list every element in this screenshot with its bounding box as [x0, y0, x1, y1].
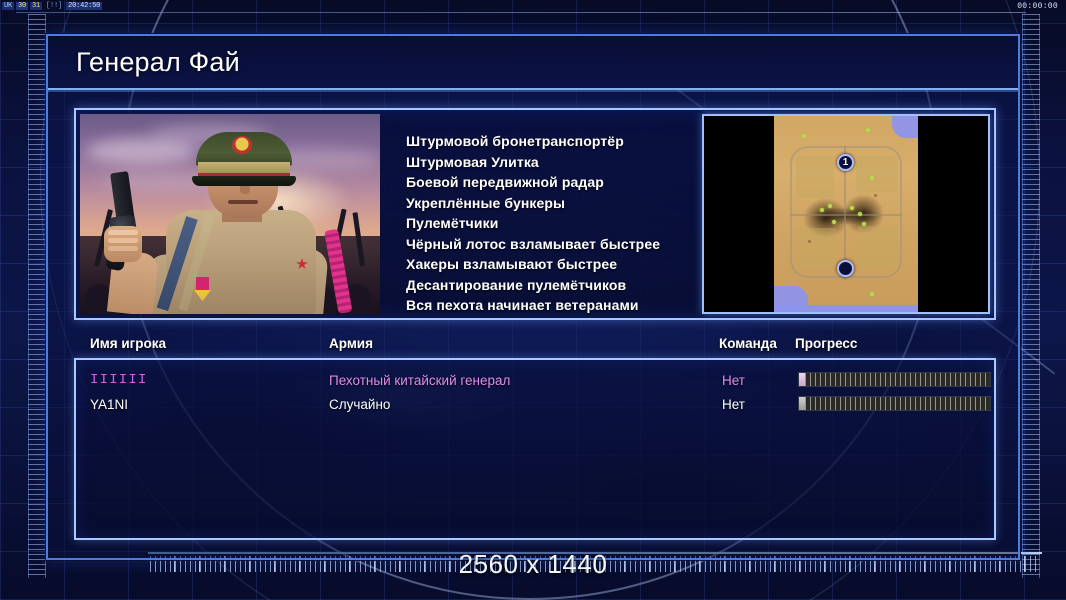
map-water — [892, 116, 918, 138]
map-tree — [870, 292, 874, 296]
column-header-name: Имя игрока — [90, 336, 166, 351]
count-a-chip: 30 — [16, 2, 28, 10]
clock-label: 20:42:50 — [66, 2, 102, 10]
table-row[interactable]: YA1NI Случайно Нет — [76, 392, 994, 416]
feature-item: Чёрный лотос взламывает быстрее — [406, 235, 702, 254]
map-feature-dot — [874, 194, 877, 197]
feature-item: Боевой передвижной радар — [406, 173, 702, 192]
map-tree — [850, 206, 854, 210]
player-progress — [798, 396, 991, 411]
map-tree — [862, 222, 866, 226]
frame-line-top — [16, 12, 1026, 13]
column-header-progress: Прогресс — [795, 336, 857, 351]
map-tree — [866, 128, 870, 132]
resolution-overlay: 2560 x 1440 — [0, 549, 1066, 580]
mouth — [228, 200, 258, 204]
feature-item: Хакеры взламывают быстрее — [406, 255, 702, 274]
progress-bar — [798, 372, 991, 387]
lobby-window: Генерал Фай — [46, 34, 1020, 560]
player-army[interactable]: Случайно — [329, 397, 390, 412]
feature-item: Укреплённые бункеры — [406, 194, 702, 213]
players-table-header: Имя игрока Армия Команда Прогресс — [76, 336, 996, 358]
table-row[interactable]: IIIIII Пехотный китайский генерал Нет — [76, 368, 994, 392]
general-portrait — [80, 114, 380, 314]
map-tree — [832, 220, 836, 224]
region-chip: UK — [2, 2, 14, 10]
map-field — [858, 226, 898, 270]
game-lobby-screen: UK 30 31 [!!] 20:42:50 00:00:00 Генерал … — [0, 0, 1066, 600]
map-tree — [870, 176, 874, 180]
player-name: IIIIII — [90, 372, 148, 388]
player-name: YA1NI — [90, 397, 128, 412]
map-tree — [802, 134, 806, 138]
match-timer: 00:00:00 — [1017, 2, 1064, 11]
map-field — [856, 156, 898, 192]
start-position-2[interactable] — [837, 260, 854, 277]
count-b-chip: 31 — [30, 2, 42, 10]
general-info-panel: Штурмовой бронетранспортёр Штурмовая Ули… — [74, 108, 996, 320]
map-tree — [828, 204, 832, 208]
progress-fill — [805, 373, 990, 386]
start-position-1[interactable]: 1 — [837, 154, 854, 171]
separator-chip: [!!] — [44, 2, 64, 10]
feature-item: Пулемётчики — [406, 214, 702, 233]
players-list-panel: IIIIII Пехотный китайский генерал Нет YA… — [74, 358, 996, 540]
map-tree — [858, 212, 862, 216]
general-features-list: Штурмовой бронетранспортёр Штурмовая Ули… — [380, 114, 702, 314]
page-title: Генерал Фай — [48, 47, 240, 78]
top-status-bar: UK 30 31 [!!] 20:42:50 00:00:00 — [0, 0, 1066, 12]
feature-item: Вся пехота начинает ветеранами — [406, 296, 702, 315]
cap-emblem-icon — [232, 136, 252, 154]
window-title-bar: Генерал Фай — [48, 36, 1018, 90]
player-army[interactable]: Пехотный китайский генерал — [329, 373, 510, 388]
map-field — [796, 156, 834, 198]
player-team[interactable]: Нет — [722, 373, 745, 388]
feature-item: Штурмовой бронетранспортёр — [406, 132, 702, 151]
top-status-left: UK 30 31 [!!] 20:42:50 — [2, 2, 102, 10]
general-hand — [104, 226, 142, 262]
cap-brim — [192, 176, 296, 186]
map-field — [796, 228, 836, 268]
feature-item: Штурмовая Улитка — [406, 153, 702, 172]
map-preview[interactable]: 1 — [702, 114, 990, 314]
ruler-left — [28, 14, 46, 578]
ruler-right — [1022, 14, 1040, 578]
column-header-army: Армия — [329, 336, 373, 351]
map-image: 1 — [774, 116, 918, 312]
map-tree — [820, 208, 824, 212]
map-feature-dot — [808, 240, 811, 243]
player-team[interactable]: Нет — [722, 397, 745, 412]
progress-bar — [798, 396, 991, 411]
progress-fill — [805, 397, 990, 410]
feature-item: Десантирование пулемётчиков — [406, 276, 702, 295]
uniform-medal — [196, 277, 209, 292]
map-road-horizontal — [790, 214, 902, 216]
map-water — [774, 305, 918, 312]
column-header-team: Команда — [719, 336, 777, 351]
player-progress — [798, 372, 991, 387]
